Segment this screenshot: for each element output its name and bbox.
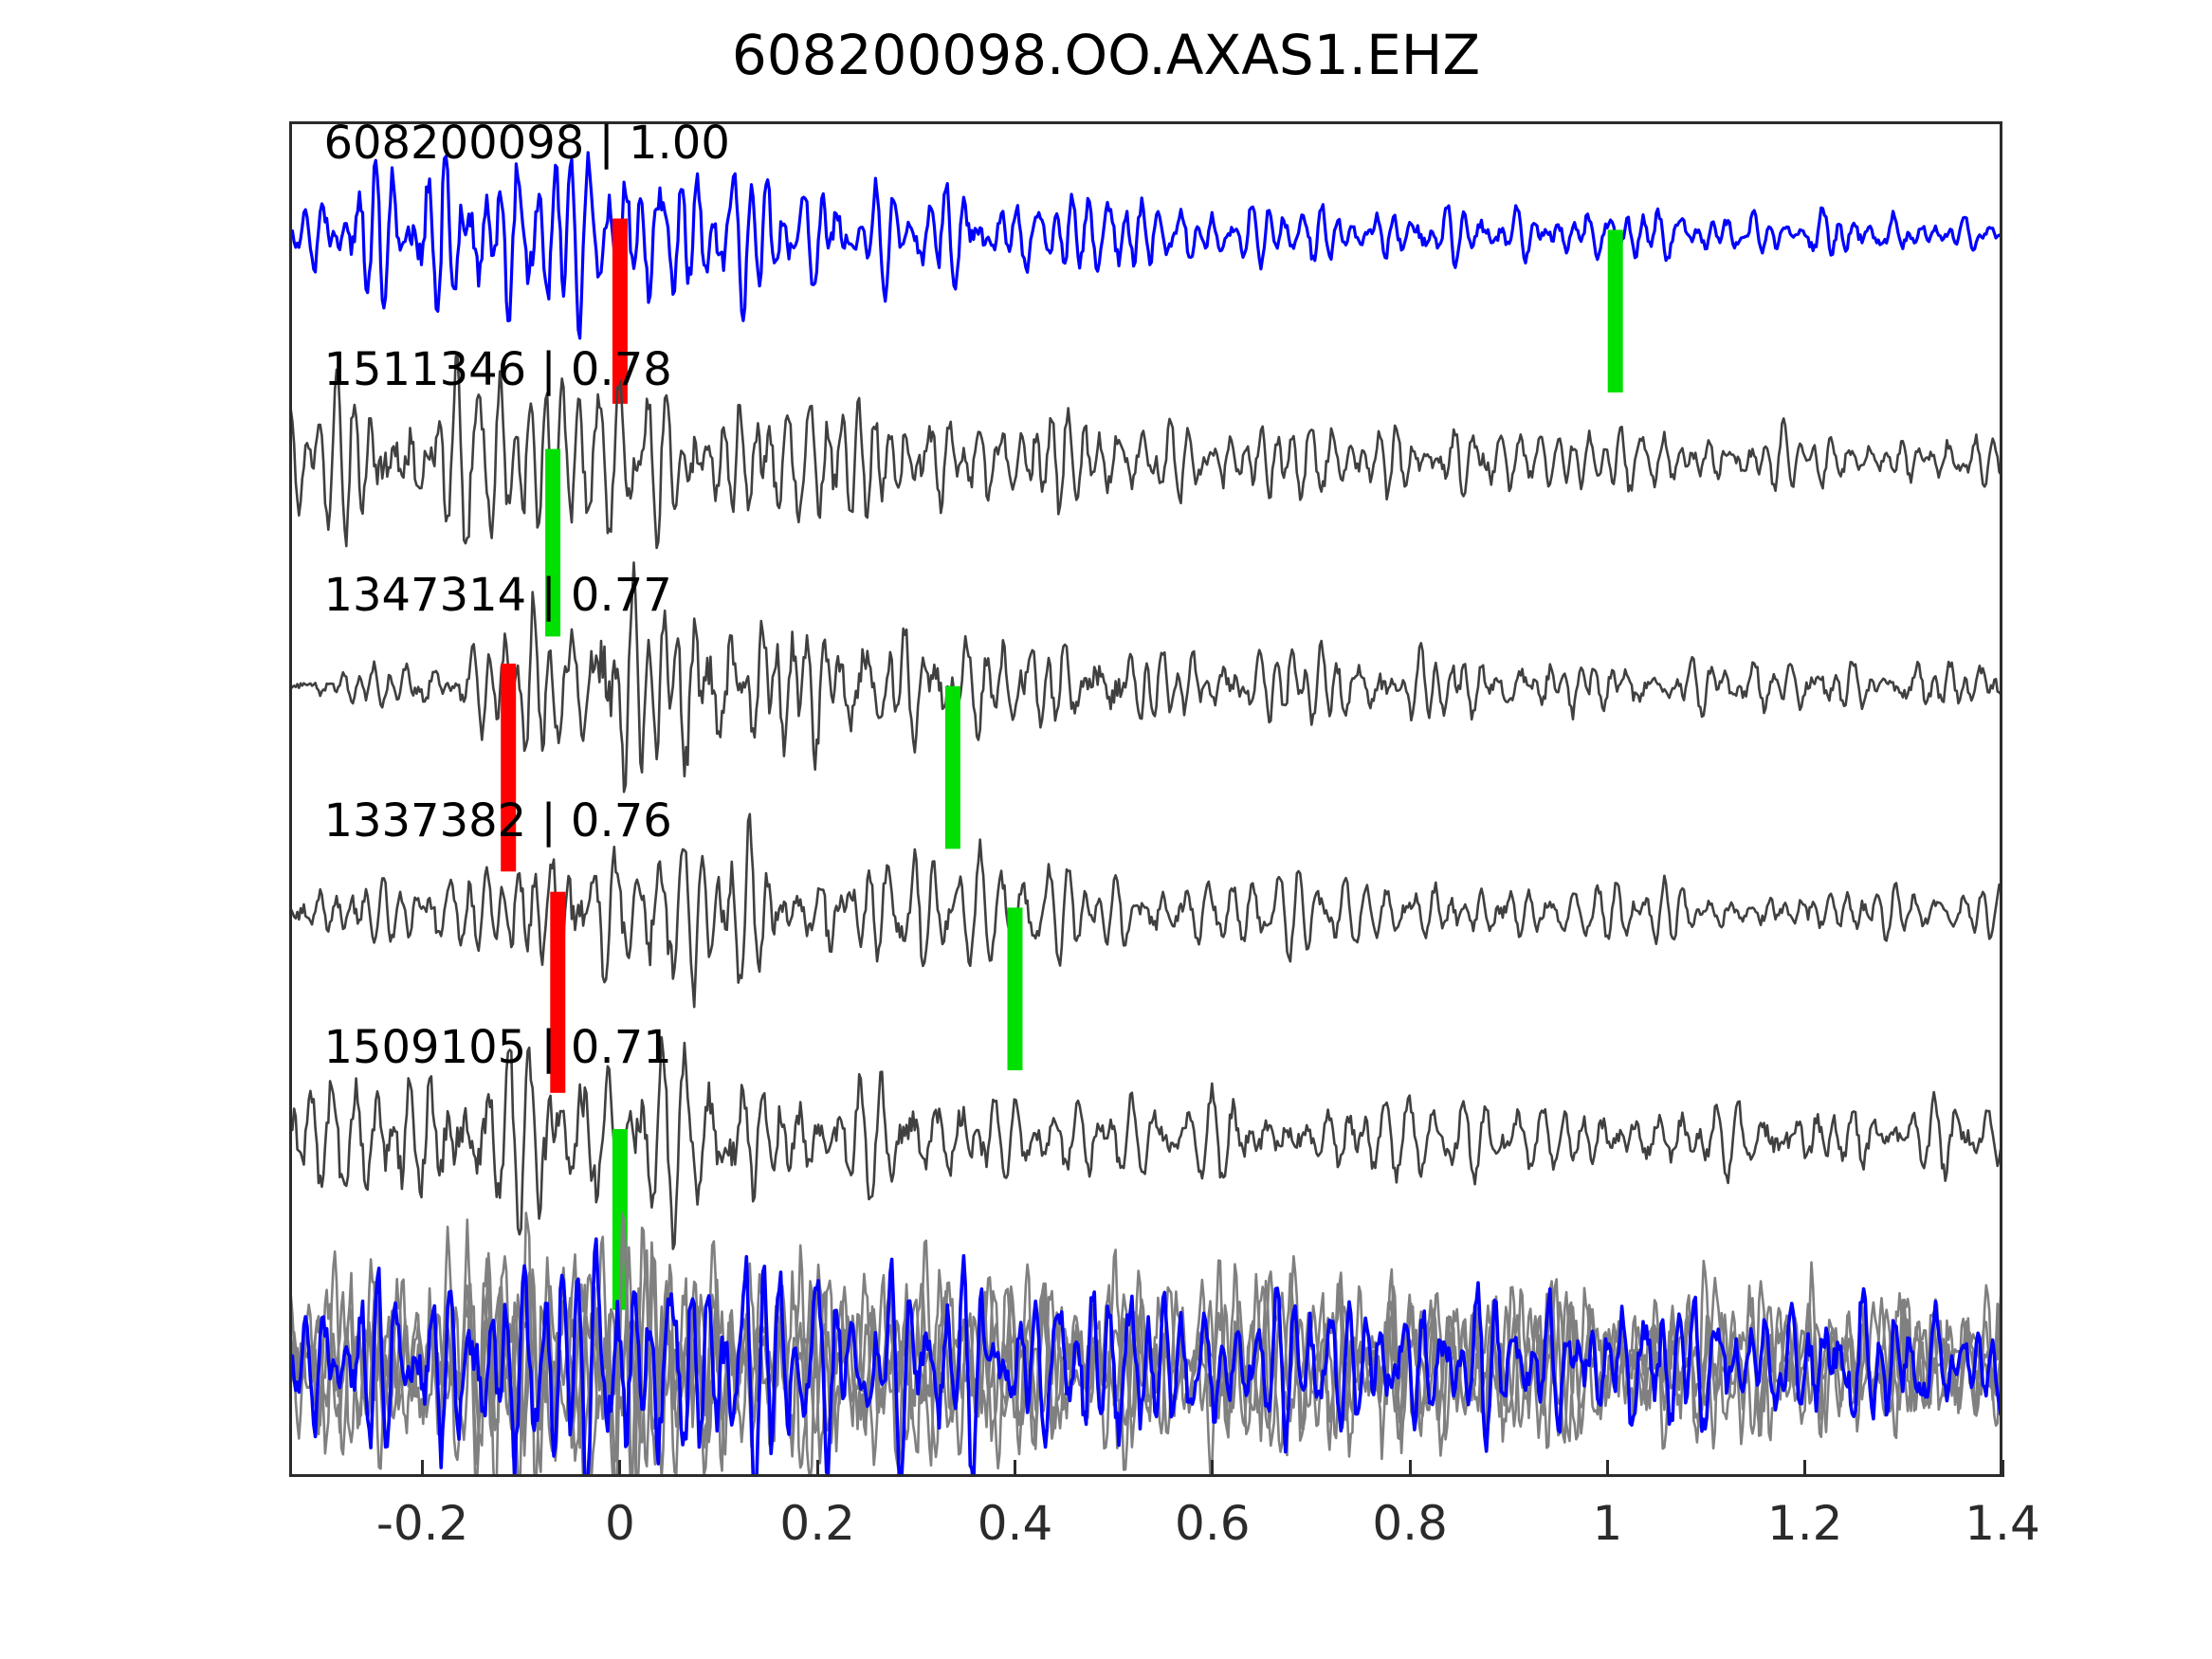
x-tick-mark (618, 1460, 621, 1477)
x-tick-label: -0.2 (376, 1496, 469, 1551)
x-tick-mark (421, 1460, 424, 1477)
x-tick-mark (2002, 1460, 2004, 1477)
waveform-line (289, 153, 2002, 338)
x-tick-label: 0 (605, 1496, 635, 1551)
page-title: 608200098.OO.AXAS1.EHZ (0, 23, 2212, 87)
x-tick-label: 0.8 (1372, 1496, 1448, 1551)
x-tick-mark (816, 1460, 819, 1477)
trace-label-1337382: 1337382 | 0.76 (323, 794, 671, 848)
stacked-overlay-row (289, 1212, 2002, 1477)
trace-label-608200098: 608200098 | 1.00 (323, 117, 729, 170)
x-tick-mark (1606, 1460, 1609, 1477)
trace-label-1347314: 1347314 | 0.77 (323, 569, 671, 622)
x-tick-label: 1 (1592, 1496, 1622, 1551)
x-tick-label: 0.4 (978, 1496, 1053, 1551)
x-tick-mark (1803, 1460, 1806, 1477)
pick-marker-pick_s (1008, 907, 1023, 1070)
x-tick-mark (1014, 1460, 1016, 1477)
x-tick-label: 1.2 (1767, 1496, 1843, 1551)
x-tick-mark (1409, 1460, 1412, 1477)
x-tick-mark (1211, 1460, 1214, 1477)
pick-marker-pick_s (1608, 229, 1623, 392)
trace-label-1509105: 1509105 | 0.71 (323, 1021, 671, 1074)
pick-marker-pick_s (945, 686, 960, 849)
seismogram-figure: 608200098.OO.AXAS1.EHZ -0.200.20.40.60.8… (0, 0, 2212, 1659)
x-tick-label: 0.2 (779, 1496, 855, 1551)
x-tick-label: 0.6 (1175, 1496, 1251, 1551)
trace-label-1511346: 1511346 | 0.78 (323, 343, 671, 396)
x-tick-label: 1.4 (1965, 1496, 2040, 1551)
